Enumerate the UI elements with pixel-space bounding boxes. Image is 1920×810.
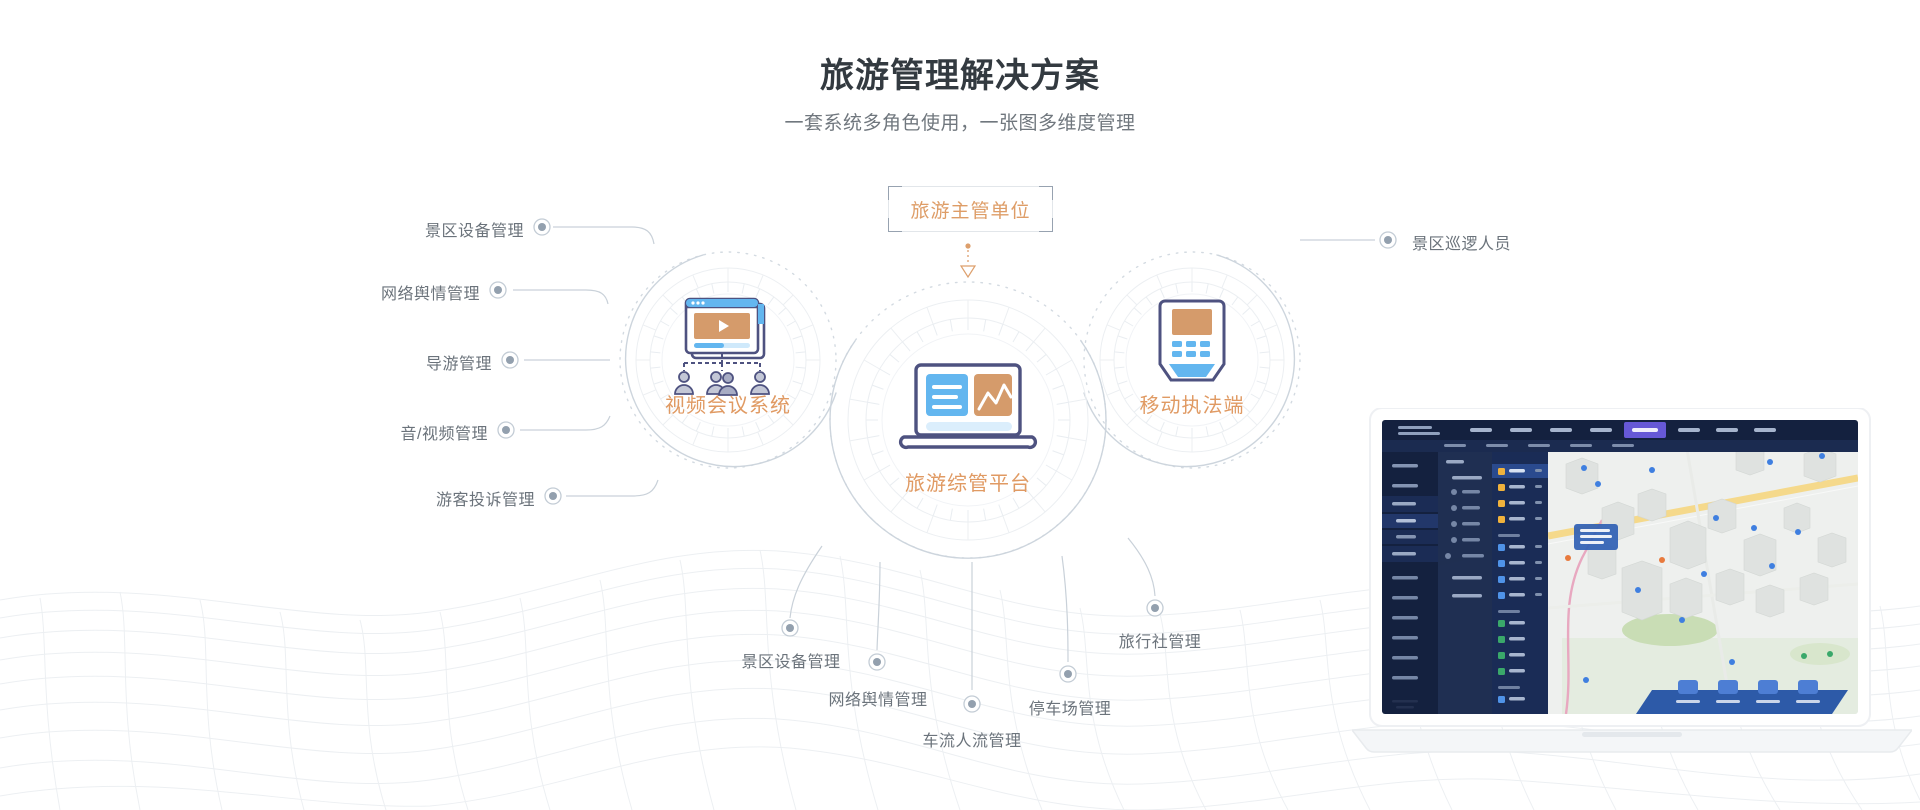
leaf-label-bottom-2[interactable]: 网络舆情管理 xyxy=(808,686,948,710)
left-connector-dots xyxy=(490,219,561,504)
authority-connector xyxy=(961,243,975,277)
laptop-dashboard-icon xyxy=(901,365,1036,447)
authority-box: 旅游主管单位 xyxy=(888,186,1053,232)
mobile-device-icon xyxy=(1160,301,1224,380)
node-caption-tourism-platform: 旅游综管平台 xyxy=(868,467,1068,496)
product-screenshot-laptop xyxy=(1352,408,1912,760)
leaf-label-left-5[interactable]: 游客投诉管理 xyxy=(299,486,535,510)
leaf-label-bottom-4[interactable]: 停车场管理 xyxy=(1000,695,1140,719)
leaf-label-left-2[interactable]: 网络舆情管理 xyxy=(244,280,480,304)
leaf-label-bottom-3[interactable]: 车流人流管理 xyxy=(902,727,1042,751)
node-caption-mobile-enforcement: 移动执法端 xyxy=(1092,389,1292,418)
leaf-label-bottom-1[interactable]: 景区设备管理 xyxy=(721,648,861,672)
right-connector-dots xyxy=(1380,232,1396,248)
leaf-label-left-4[interactable]: 音/视频管理 xyxy=(252,420,488,444)
video-conference-icon xyxy=(675,299,769,395)
node-caption-video-conference: 视频会议系统 xyxy=(628,389,828,418)
leaf-label-right-1[interactable]: 景区巡逻人员 xyxy=(1412,230,1511,254)
leaf-label-left-1[interactable]: 景区设备管理 xyxy=(288,217,524,241)
leaf-label-left-3[interactable]: 导游管理 xyxy=(256,350,492,374)
leaf-label-bottom-5[interactable]: 旅行社管理 xyxy=(1090,628,1230,652)
authority-label: 旅游主管单位 xyxy=(910,196,1030,223)
solution-diagram-page: 旅游管理解决方案 一套系统多角色使用，一张图多维度管理 xyxy=(0,0,1920,810)
